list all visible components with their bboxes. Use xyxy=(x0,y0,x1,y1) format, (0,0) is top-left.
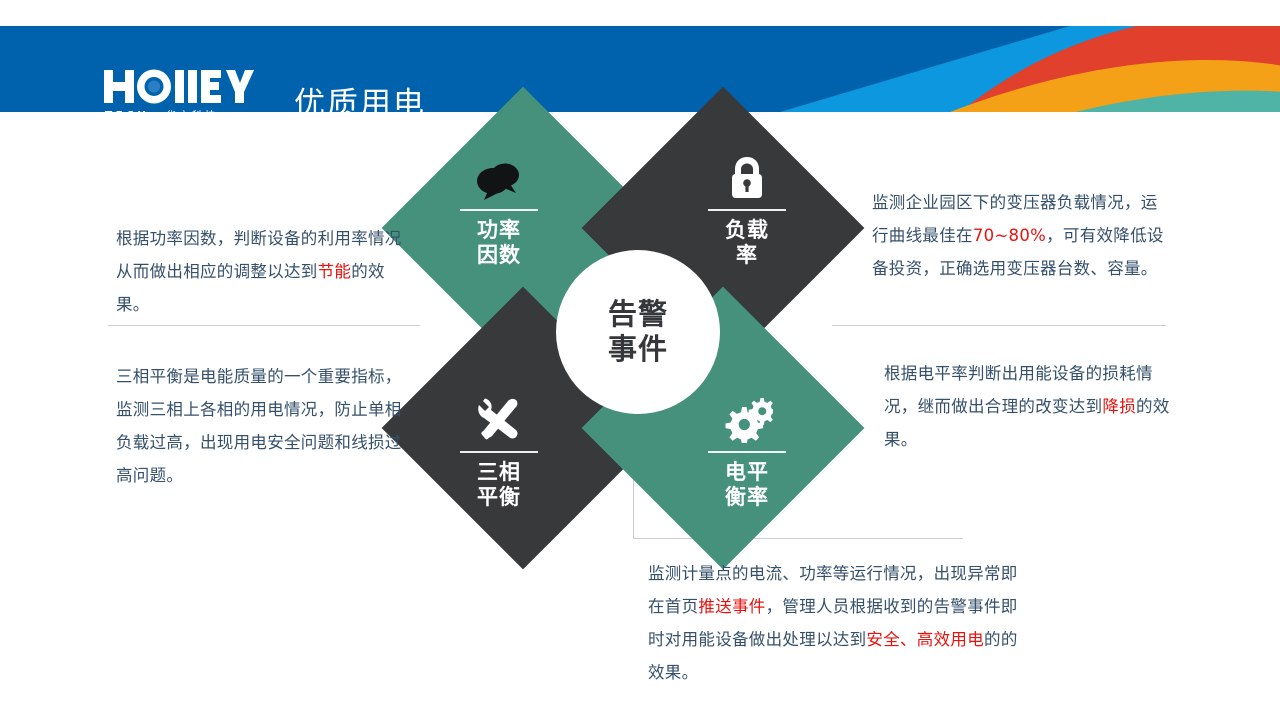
highlighted-text: 节能 xyxy=(318,262,352,281)
description-three-phase: 三相平衡是电能质量的一个重要指标，监测三相上各相的用电情况，防止单相负载过高，出… xyxy=(116,360,416,492)
center-label-line1: 告警 xyxy=(608,297,668,332)
lock-icon xyxy=(729,149,765,201)
diamond-label-line1: 三相 xyxy=(477,460,521,484)
description-level-balance: 根据电平率判断出用能设备的损耗情况，继而做出合理的改变达到降损的效果。 xyxy=(884,357,1174,456)
highlighted-text: 安全、高效用电 xyxy=(866,630,984,649)
diagram-center-circle: 告警 事件 xyxy=(556,250,720,414)
diamond-label-line1: 电平 xyxy=(725,460,769,484)
diamond-label-line1: 功率 xyxy=(477,218,521,242)
diamond-label-line2: 衡率 xyxy=(725,485,769,509)
diamond-label-line1: 负载 xyxy=(725,218,769,242)
body-text: 三相平衡是电能质量的一个重要指标，监测三相上各相的用电情况，防止单相负载过高，出… xyxy=(116,367,402,485)
node-rule xyxy=(708,209,786,211)
tools-icon xyxy=(475,391,523,443)
svg-text:TECH: TECH xyxy=(105,110,149,112)
diamond-label-line2: 平衡 xyxy=(477,485,521,509)
svg-text:华立科技: 华立科技 xyxy=(166,109,218,112)
node-rule xyxy=(460,209,538,211)
highlighted-text: 70~80% xyxy=(973,226,1046,245)
divider-left xyxy=(108,325,420,326)
page-title: 优质用电 xyxy=(294,78,426,112)
node-rule xyxy=(708,451,786,453)
description-power-factor: 根据功率因数，判断设备的利用率情况从而做出相应的调整以达到节能的效果。 xyxy=(116,222,416,321)
chat-bubbles-icon xyxy=(474,149,524,201)
description-load-rate: 监测企业园区下的变压器负载情况，运行曲线最佳在70~80%，可有效降低设备投资，… xyxy=(872,186,1172,285)
gears-icon xyxy=(721,391,773,443)
page-header: TECH 华立科技 优质用电 xyxy=(0,26,1280,112)
divider-right xyxy=(832,325,1166,326)
highlighted-text: 推送事件 xyxy=(698,597,765,616)
diamond-label-line2: 因数 xyxy=(477,243,521,267)
center-label-line2: 事件 xyxy=(608,332,668,367)
alarm-event-diagram: 功率 因数 负载 率 xyxy=(418,122,858,542)
description-alarm-event: 监测计量点的电流、功率等运行情况，出现异常即在首页推送事件，管理人员根据收到的告… xyxy=(648,557,1018,689)
node-rule xyxy=(460,451,538,453)
holley-logo: TECH 华立科技 xyxy=(104,68,264,112)
diamond-label-line2: 率 xyxy=(725,243,769,267)
highlighted-text: 降损 xyxy=(1102,397,1136,416)
